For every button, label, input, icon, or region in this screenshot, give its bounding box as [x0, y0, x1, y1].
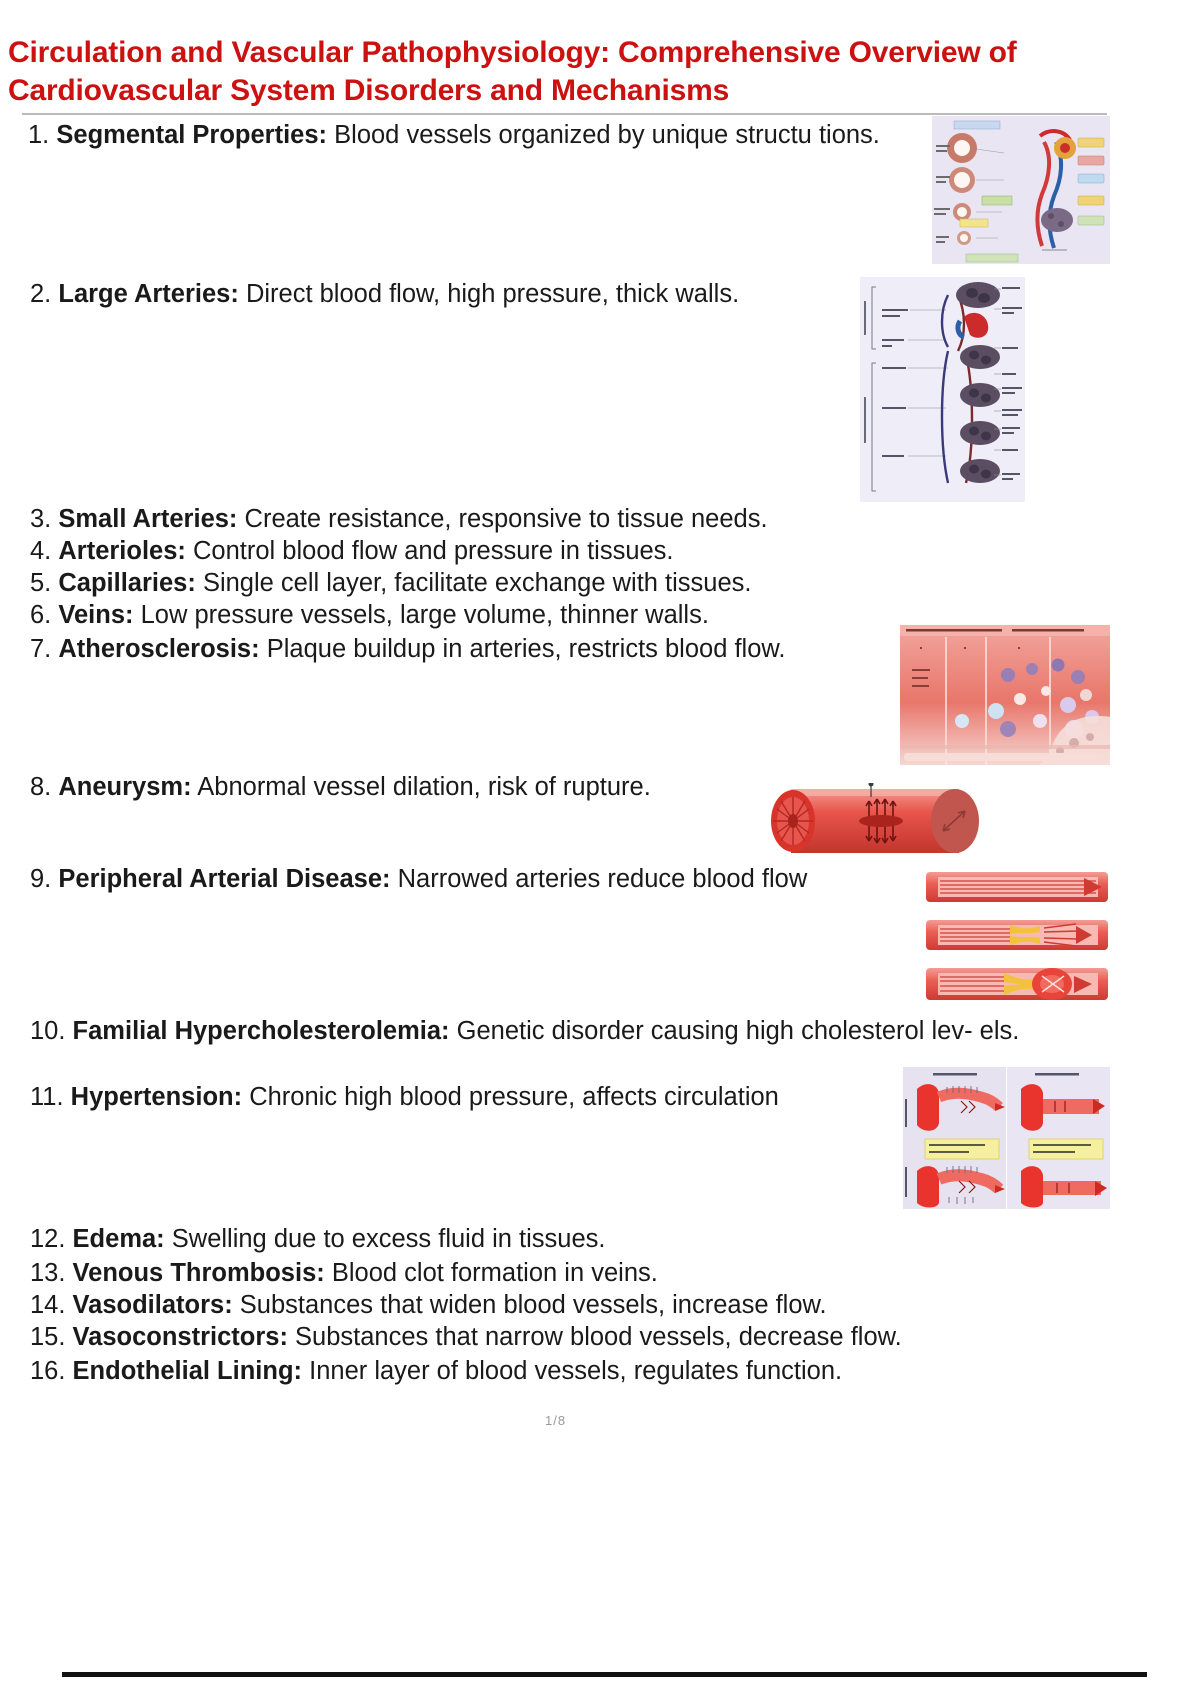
list-item-16: 16. Endothelial Lining: Inner layer of b… [30, 1354, 1020, 1388]
page-title-line-1: Circulation and Vascular Pathophysiology… [8, 36, 980, 69]
vessel-segments-svg [932, 116, 1110, 264]
list-item-3-number: 3. [30, 505, 51, 533]
list-item-12-term: Edema: [73, 1225, 165, 1253]
list-item-11-term: Hypertension: [71, 1083, 242, 1111]
list-item-10-number: 10. [30, 1017, 65, 1045]
vessel-segments-diagram [932, 116, 1110, 264]
pad-plaque-artery [926, 920, 1108, 950]
list-item-8-number: 8. [30, 773, 51, 801]
list-item-2-number: 2. [30, 280, 51, 308]
list-item-8-description: Abnormal vessel dilation, risk of ruptur… [197, 773, 651, 801]
list-item-5-number: 5. [30, 569, 51, 597]
list-item-9-term: Peripheral Arterial Disease: [58, 865, 390, 893]
list-item-11-number: 11. [30, 1083, 64, 1111]
list-item-4: 4. Arterioles: Control blood flow and pr… [30, 534, 930, 568]
list-item-12-description: Swelling due to excess fluid in tissues. [172, 1225, 606, 1253]
list-item-10-continuation: els. [980, 1017, 1020, 1045]
list-item-8: 8. Aneurysm: Abnormal vessel dilation, r… [30, 770, 790, 804]
list-item-6: 6. Veins: Low pressure vessels, large vo… [30, 598, 930, 632]
list-item-9-description: Narrowed arteries reduce blood flow [398, 865, 808, 893]
list-item-2-term: Large Arteries: [58, 280, 238, 308]
list-item-1-description: Blood vessels organized by unique struct… [334, 121, 812, 149]
list-item-16-number: 16. [30, 1357, 65, 1385]
list-item-14-term: Vasodilators: [73, 1291, 233, 1319]
header-divider [22, 113, 1107, 115]
list-item-10: 10. Familial Hypercholesterolemia: Genet… [30, 1014, 1108, 1048]
list-item-15-description: Substances that narrow blood vessels, de… [295, 1323, 902, 1351]
list-item-13-term: Venous Thrombosis: [73, 1259, 325, 1287]
aneurysm-svg [757, 783, 979, 859]
list-item-16-description: Inner layer of blood vessels, regulates … [309, 1357, 842, 1385]
list-item-4-description: Control blood flow and pressure in tissu… [193, 537, 674, 565]
right-margin-mask [1188, 0, 1200, 1700]
list-item-10-term: Familial Hypercholesterolemia: [73, 1017, 450, 1045]
list-item-8-term: Aneurysm: [58, 773, 191, 801]
list-item-15: 15. Vasoconstrictors: Substances that na… [30, 1320, 1040, 1354]
list-item-16-term: Endothelial Lining: [73, 1357, 302, 1385]
list-item-3: 3. Small Arteries: Create resistance, re… [30, 502, 930, 536]
list-item-1: 1. Segmental Properties: Blood vessels o… [28, 118, 938, 152]
list-item-1-continuation: tions. [819, 121, 880, 149]
list-item-15-term: Vasoconstrictors: [73, 1323, 288, 1351]
list-item-5: 5. Capillaries: Single cell layer, facil… [30, 566, 930, 600]
list-item-7-number: 7. [30, 635, 51, 663]
list-item-7-term: Atherosclerosis: [58, 635, 259, 663]
list-item-9-number: 9. [30, 865, 51, 893]
list-item-14-description: Substances that widen blood vessels, inc… [240, 1291, 827, 1319]
pad-narrowed-artery [926, 968, 1108, 1000]
list-item-7: 7. Atherosclerosis: Plaque buildup in ar… [30, 632, 930, 666]
document-page: Circulation and Vascular Pathophysiology… [0, 0, 1200, 1700]
list-item-9: 9. Peripheral Arterial Disease: Narrowed… [30, 862, 960, 896]
list-item-3-term: Small Arteries: [58, 505, 237, 533]
list-item-6-term: Veins: [58, 601, 133, 629]
list-item-13: 13. Venous Thrombosis: Blood clot format… [30, 1256, 930, 1290]
list-item-5-term: Capillaries: [58, 569, 195, 597]
atherosclerosis-progression-diagram [900, 625, 1110, 765]
list-item-10-description: Genetic disorder causing high cholestero… [457, 1017, 973, 1045]
list-item-2-description: Direct blood flow, high pressure, thick … [246, 280, 739, 308]
list-item-5-description: Single cell layer, facilitate exchange w… [203, 569, 752, 597]
hypertension-vessel-diagram [903, 1067, 1110, 1209]
list-item-6-description: Low pressure vessels, large volume, thin… [141, 601, 709, 629]
list-item-4-number: 4. [30, 537, 51, 565]
page-number: 1/8 [545, 1413, 566, 1428]
list-item-2: 2. Large Arteries: Direct blood flow, hi… [30, 277, 890, 311]
list-item-6-number: 6. [30, 601, 51, 629]
list-item-13-number: 13. [30, 1259, 65, 1287]
aneurysm-vessel-illustration [757, 783, 979, 859]
atherosclerosis-svg [900, 625, 1110, 765]
list-item-12-number: 12. [30, 1225, 65, 1253]
list-item-4-term: Arterioles: [58, 537, 186, 565]
list-item-15-number: 15. [30, 1323, 65, 1351]
list-item-14-number: 14. [30, 1291, 65, 1319]
list-item-11: 11. Hypertension: Chronic high blood pre… [30, 1080, 930, 1114]
page-title: Circulation and Vascular Pathophysiology… [8, 34, 1118, 110]
list-item-11-description: Chronic high blood pressure, affects cir… [249, 1083, 779, 1111]
hypertension-svg [903, 1067, 1110, 1209]
list-item-7-description: Plaque buildup in arteries, restricts bl… [267, 635, 786, 663]
list-item-14: 14. Vasodilators: Substances that widen … [30, 1288, 990, 1322]
list-item-12: 12. Edema: Swelling due to excess fluid … [30, 1222, 930, 1256]
list-item-1-number: 1. [28, 121, 49, 149]
list-item-1-term: Segmental Properties: [56, 121, 327, 149]
footer-divider [62, 1672, 1147, 1677]
list-item-13-description: Blood clot formation in veins. [332, 1259, 658, 1287]
list-item-3-description: Create resistance, responsive to tissue … [245, 505, 768, 533]
